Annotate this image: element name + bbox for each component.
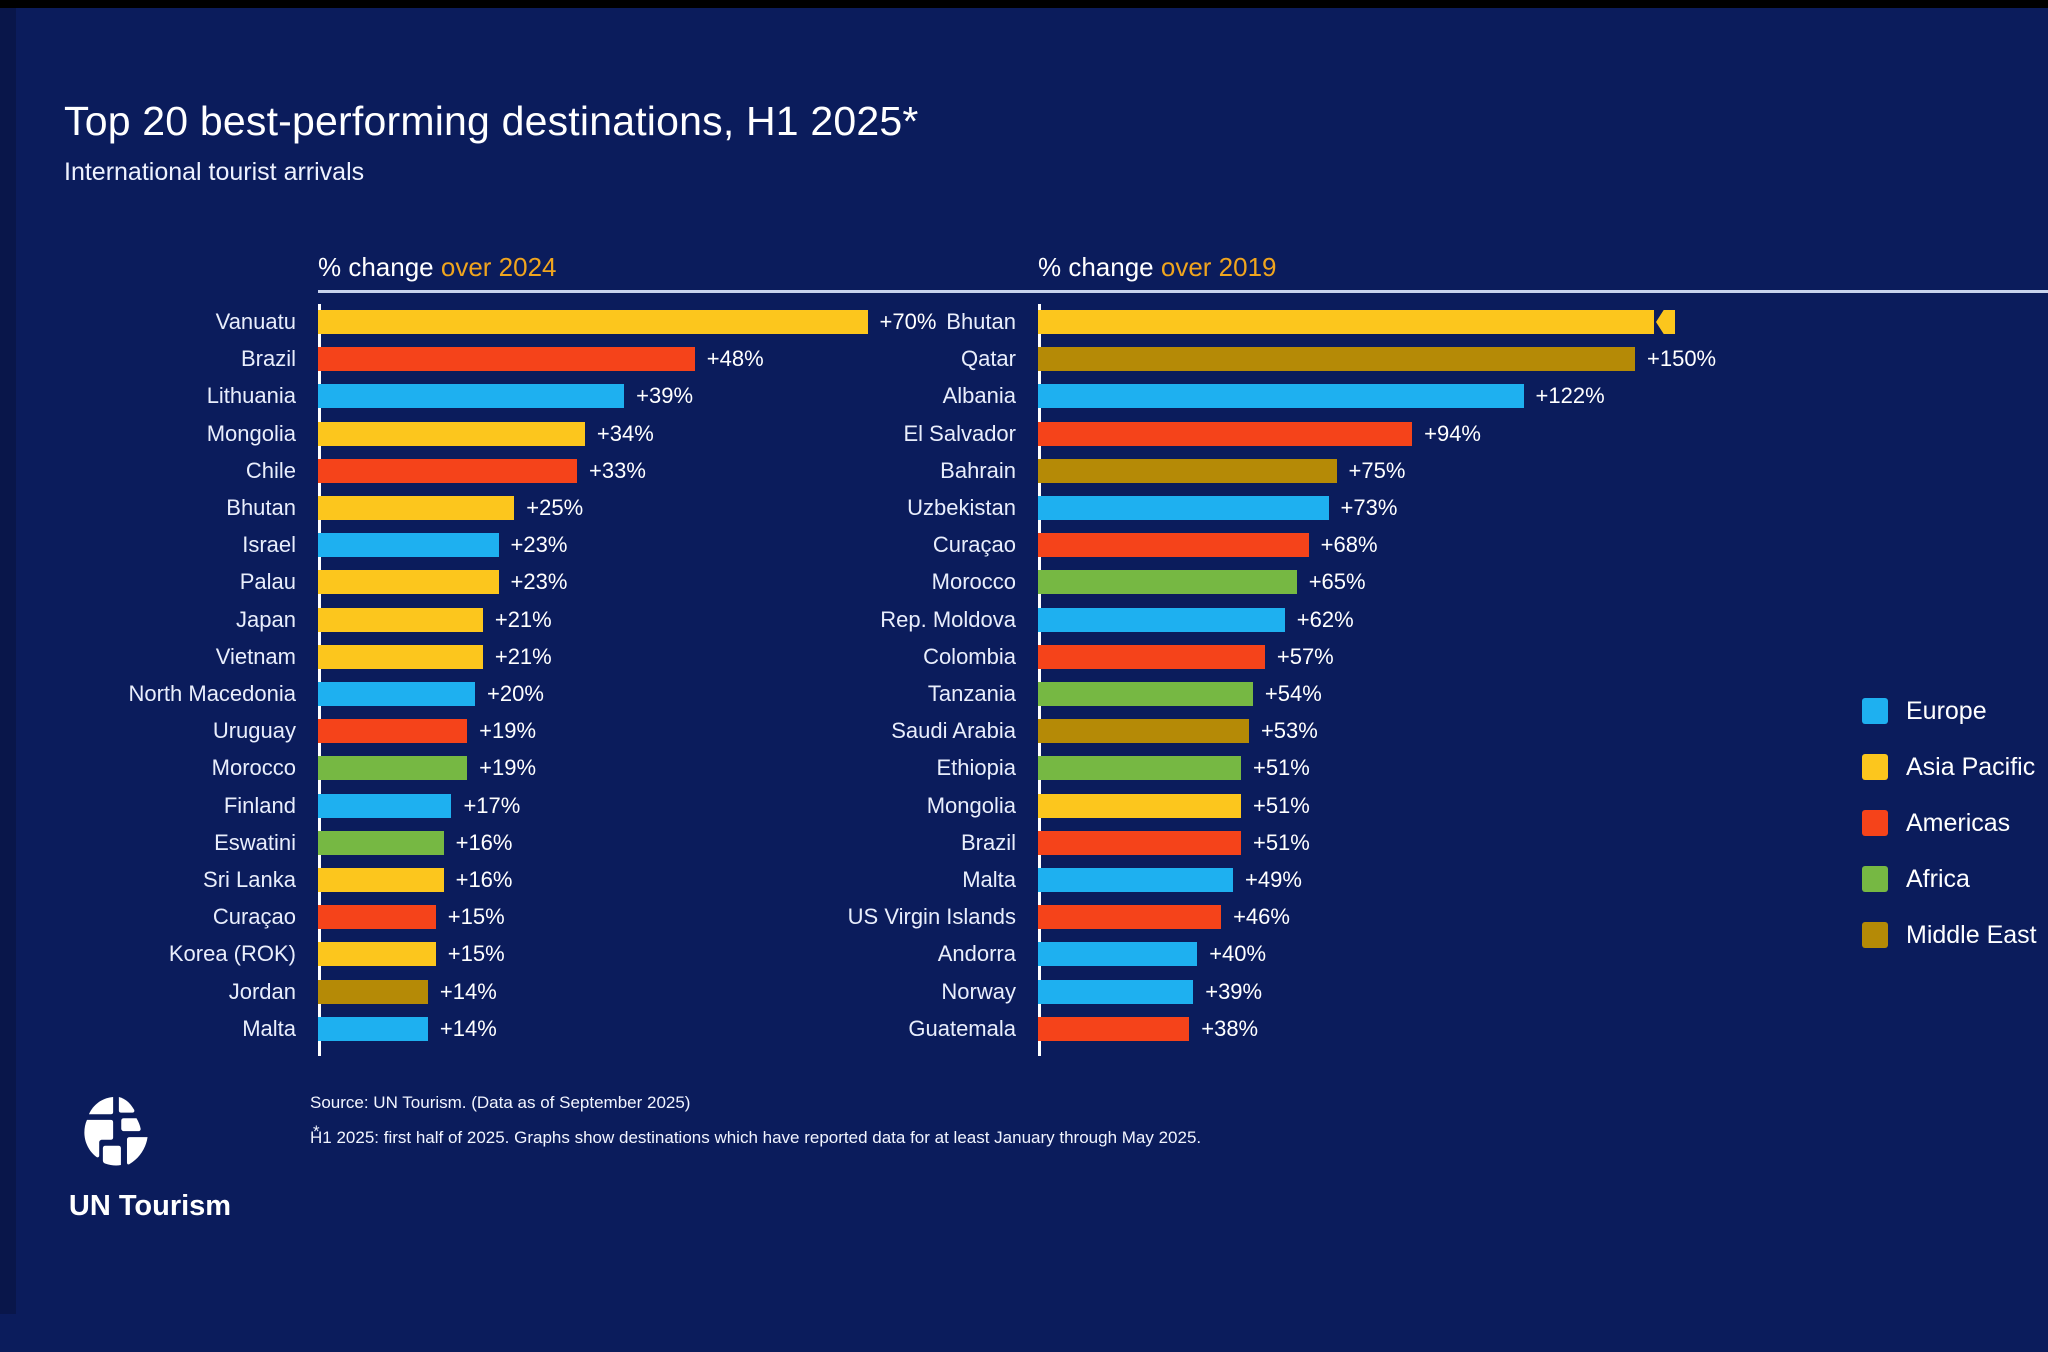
bar-value-label: +51% [1253, 754, 1310, 782]
bar-value-label: +16% [456, 829, 513, 857]
bar-value-label: +46% [1233, 903, 1290, 931]
bar [318, 756, 467, 780]
bar-track: +75% [1038, 457, 2048, 485]
bar-value-label: +62% [1297, 606, 1354, 634]
bar [318, 682, 475, 706]
chart-title-prefix: % change [1038, 252, 1161, 282]
legend-color-swatch [1862, 922, 1888, 948]
bar-row-label: Colombia [720, 643, 1030, 671]
bar-row: Norway+39% [720, 978, 2048, 1006]
bar-track: +51% [1038, 792, 2048, 820]
bar-track: +73% [1038, 494, 2048, 522]
bar-value-label: +20% [487, 680, 544, 708]
bar-value-label: +15% [448, 903, 505, 931]
bar-row: Rep. Moldova+62% [720, 606, 2048, 634]
bar-row-label: Palau [0, 568, 310, 596]
bar-row: Bahrain+75% [720, 457, 2048, 485]
bar-row: Mongolia+51% [720, 792, 2048, 820]
bar-row-label: Malta [720, 866, 1030, 894]
bar-row-label: Norway [720, 978, 1030, 1006]
chart-title-over-2024: % change over 2024 [318, 252, 557, 283]
bar-row-label: Chile [0, 457, 310, 485]
bar [1038, 310, 1675, 334]
bar-row-label: Lithuania [0, 382, 310, 410]
bar-row-label: Andorra [720, 940, 1030, 968]
un-tourism-logo: UN Tourism [50, 1090, 250, 1177]
bar-value-label: +23% [511, 568, 568, 596]
bar-row-label: Israel [0, 531, 310, 559]
bar [318, 831, 444, 855]
bar-row-label: El Salvador [720, 420, 1030, 448]
chart-title-over-2019: % change over 2019 [1038, 252, 1277, 283]
bar-row-label: Curaçao [720, 531, 1030, 559]
legend-item-label: Americas [1906, 802, 2010, 844]
bar-value-label: +94% [1424, 420, 1481, 448]
bar [1038, 347, 1635, 371]
chart-title-prefix: % change [318, 252, 441, 282]
bar-track: +150% [1038, 345, 2048, 373]
bar-row-label: Rep. Moldova [720, 606, 1030, 634]
bar-value-label: +73% [1341, 494, 1398, 522]
bar-value-label: +25% [526, 494, 583, 522]
bar-track: +46% [1038, 903, 2048, 931]
bar-track: +39% [1038, 978, 2048, 1006]
bar-track: +53% [1038, 717, 2048, 745]
bar-value-label: +51% [1253, 829, 1310, 857]
bar [1038, 645, 1265, 669]
page-title: Top 20 best-performing destinations, H1 … [64, 98, 919, 145]
bar-value-label: +14% [440, 978, 497, 1006]
bar-value-label: +49% [1245, 866, 1302, 894]
bar [1038, 496, 1329, 520]
bar-value-label: +65% [1309, 568, 1366, 596]
bar-track [1038, 308, 2048, 336]
bar-row-label: Ethiopia [720, 754, 1030, 782]
bar-row: Andorra+40% [720, 940, 2048, 968]
bar-row-label: Morocco [0, 754, 310, 782]
bar-row-label: Eswatini [0, 829, 310, 857]
bar [1038, 422, 1412, 446]
bar [1038, 868, 1233, 892]
bar-value-label: +17% [463, 792, 520, 820]
bar-value-label: +39% [1205, 978, 1262, 1006]
bar [318, 868, 444, 892]
bar-row: Ethiopia+51% [720, 754, 2048, 782]
bar-value-label: +14% [440, 1015, 497, 1043]
bar [318, 608, 483, 632]
bar-row: Saudi Arabia+53% [720, 717, 2048, 745]
bar-row-label: Uzbekistan [720, 494, 1030, 522]
bar-value-label: +33% [589, 457, 646, 485]
footnote-text: H1 2025: first half of 2025. Graphs show… [310, 1128, 1201, 1148]
chart-axis-rule [1038, 290, 2048, 293]
bar [318, 905, 436, 929]
bar-row-label: North Macedonia [0, 680, 310, 708]
bar [1038, 831, 1241, 855]
bar [1038, 756, 1241, 780]
bar-value-label: +57% [1277, 643, 1334, 671]
legend-color-swatch [1862, 754, 1888, 780]
bar-row-label: Morocco [720, 568, 1030, 596]
bar-row: Uzbekistan+73% [720, 494, 2048, 522]
bar-track: +57% [1038, 643, 2048, 671]
bar-row-label: Uruguay [0, 717, 310, 745]
bar-value-label: +16% [456, 866, 513, 894]
bar-row: Albania+122% [720, 382, 2048, 410]
bar [318, 942, 436, 966]
bar-value-label: +21% [495, 606, 552, 634]
bar [318, 422, 585, 446]
bar-row: El Salvador+94% [720, 420, 2048, 448]
bar [318, 570, 499, 594]
bar-value-label: +54% [1265, 680, 1322, 708]
bar-row-label: Vietnam [0, 643, 310, 671]
bar-row-label: Curaçao [0, 903, 310, 931]
chart-title-accent: over 2024 [441, 252, 557, 282]
bar [318, 980, 428, 1004]
bar-track: +38% [1038, 1015, 2048, 1043]
bar [318, 794, 451, 818]
bar-row-label: Tanzania [720, 680, 1030, 708]
bar-row-label: Malta [0, 1015, 310, 1043]
bar [1038, 533, 1309, 557]
bar-row: Bhutan [720, 308, 2048, 336]
bar-row: US Virgin Islands+46% [720, 903, 2048, 931]
bar-track: +40% [1038, 940, 2048, 968]
bar-track: +51% [1038, 754, 2048, 782]
legend-item-label: Europe [1906, 690, 1987, 732]
chart-title-accent: over 2019 [1161, 252, 1277, 282]
bar-value-label: +39% [636, 382, 693, 410]
bar-row-label: Finland [0, 792, 310, 820]
bar-track: +49% [1038, 866, 2048, 894]
bar-track: +54% [1038, 680, 2048, 708]
bar [1038, 570, 1297, 594]
legend-color-swatch [1862, 698, 1888, 724]
bar-row-label: Guatemala [720, 1015, 1030, 1043]
infographic-canvas: Top 20 best-performing destinations, H1 … [0, 0, 2048, 1352]
bar-value-label: +19% [479, 754, 536, 782]
chart-axis-rule [318, 290, 1138, 293]
bar-row-label: Bahrain [720, 457, 1030, 485]
legend-item-label: Asia Pacific [1906, 746, 2035, 788]
bar-value-label: +75% [1349, 457, 1406, 485]
bar-row-label: Bhutan [720, 308, 1030, 336]
bar-row-label: Vanuatu [0, 308, 310, 336]
bar-row-label: Japan [0, 606, 310, 634]
bar [1038, 608, 1285, 632]
bar-row: Qatar+150% [720, 345, 2048, 373]
logo-wordmark: UN Tourism [50, 1190, 250, 1223]
bar-row: Malta+49% [720, 866, 2048, 894]
un-tourism-globe-icon [75, 1090, 157, 1172]
bar-row-label: Korea (ROK) [0, 940, 310, 968]
bar-row-label: Qatar [720, 345, 1030, 373]
bar [318, 1017, 428, 1041]
bar [318, 533, 499, 557]
bar-value-label: +15% [448, 940, 505, 968]
bar-row-label: Saudi Arabia [720, 717, 1030, 745]
bar-row: Tanzania+54% [720, 680, 2048, 708]
bar [1038, 719, 1249, 743]
bar-value-label: +21% [495, 643, 552, 671]
bar [1038, 682, 1253, 706]
bar-value-label: +23% [511, 531, 568, 559]
bar-row-label: Bhutan [0, 494, 310, 522]
bar-row-label: Jordan [0, 978, 310, 1006]
legend-color-swatch [1862, 866, 1888, 892]
bar-track: +51% [1038, 829, 2048, 857]
bar [1038, 794, 1241, 818]
bar [318, 496, 514, 520]
bar-track: +62% [1038, 606, 2048, 634]
bar-row-label: Brazil [0, 345, 310, 373]
bar-row: Colombia+57% [720, 643, 2048, 671]
bar-row: Morocco+65% [720, 568, 2048, 596]
bar-value-label: +53% [1261, 717, 1318, 745]
bar-track: +94% [1038, 420, 2048, 448]
bar-value-label: +150% [1647, 345, 1716, 373]
bar-row-label: Mongolia [0, 420, 310, 448]
bar-row-label: US Virgin Islands [720, 903, 1030, 931]
bar-track: +68% [1038, 531, 2048, 559]
bar-value-label: +51% [1253, 792, 1310, 820]
bar [318, 347, 695, 371]
bar-value-label: +40% [1209, 940, 1266, 968]
bar [1038, 905, 1221, 929]
bar-value-label: +68% [1321, 531, 1378, 559]
bar-row-label: Albania [720, 382, 1030, 410]
bar [1038, 384, 1524, 408]
legend-item-label: Africa [1906, 858, 1970, 900]
bar-row: Guatemala+38% [720, 1015, 2048, 1043]
bar-row-label: Mongolia [720, 792, 1030, 820]
bar-row-label: Sri Lanka [0, 866, 310, 894]
bar-value-label: +34% [597, 420, 654, 448]
bar-row: Brazil+51% [720, 829, 2048, 857]
bar [1038, 942, 1197, 966]
bar [1038, 980, 1193, 1004]
bar [1038, 459, 1337, 483]
bar-value-label: +19% [479, 717, 536, 745]
bar [318, 384, 624, 408]
bar-value-label: +122% [1536, 382, 1605, 410]
source-text: Source: UN Tourism. (Data as of Septembe… [310, 1093, 690, 1113]
bar-row: Curaçao+68% [720, 531, 2048, 559]
letterbox-top-bar [0, 0, 2048, 8]
legend-color-swatch [1862, 810, 1888, 836]
bar [318, 719, 467, 743]
bar-track: +65% [1038, 568, 2048, 596]
page-subtitle: International tourist arrivals [64, 158, 364, 187]
bar-value-label: +38% [1201, 1015, 1258, 1043]
bar-track: +122% [1038, 382, 2048, 410]
bar [318, 459, 577, 483]
bar [318, 645, 483, 669]
legend-item-label: Middle East [1906, 914, 2037, 956]
bar-row-label: Brazil [720, 829, 1030, 857]
bar [1038, 1017, 1189, 1041]
